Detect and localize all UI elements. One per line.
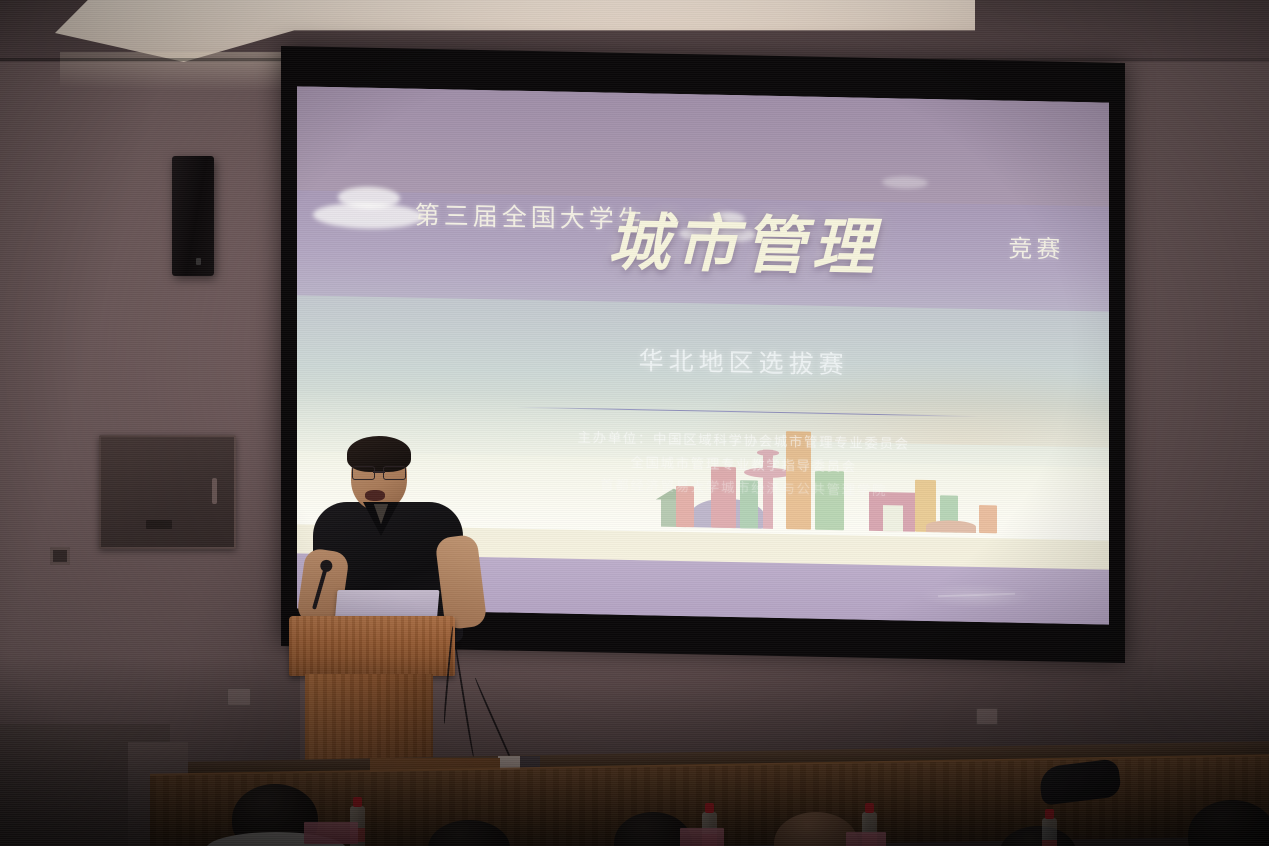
glasses-icon: [352, 466, 406, 478]
left-wall: [0, 0, 300, 846]
podium-top: [289, 616, 455, 676]
right-wall: [1120, 0, 1269, 846]
building-icon: [979, 505, 997, 534]
name-card: [846, 832, 886, 846]
wall-access-panel[interactable]: [99, 435, 236, 549]
name-card: [304, 822, 358, 844]
panel-label: [146, 520, 172, 529]
slide-sky-band: [297, 86, 1109, 207]
slide-title-calligraphy: 城市管理: [608, 192, 880, 287]
presenter-mouth: [365, 490, 385, 501]
cctv-building-gap: [883, 505, 903, 532]
slide-subtitle: 华北地区选拔赛: [639, 341, 849, 381]
photo-scene: 第三届全国大学生 城市管理 竞赛 华北地区选拔赛 主办单位：中国区域科学协会城市…: [0, 0, 1269, 846]
wall-outlet[interactable]: [227, 688, 251, 706]
wall-jack-plate[interactable]: [50, 547, 70, 565]
slide-title-suffix: 竞赛: [1008, 228, 1064, 264]
panel-handle-icon[interactable]: [212, 478, 217, 504]
name-card: [680, 828, 724, 846]
wall-outlet[interactable]: [976, 708, 998, 725]
water-bottle[interactable]: [1042, 818, 1057, 846]
opera-house-icon: [926, 520, 976, 533]
wall-speaker-icon: [172, 156, 214, 276]
